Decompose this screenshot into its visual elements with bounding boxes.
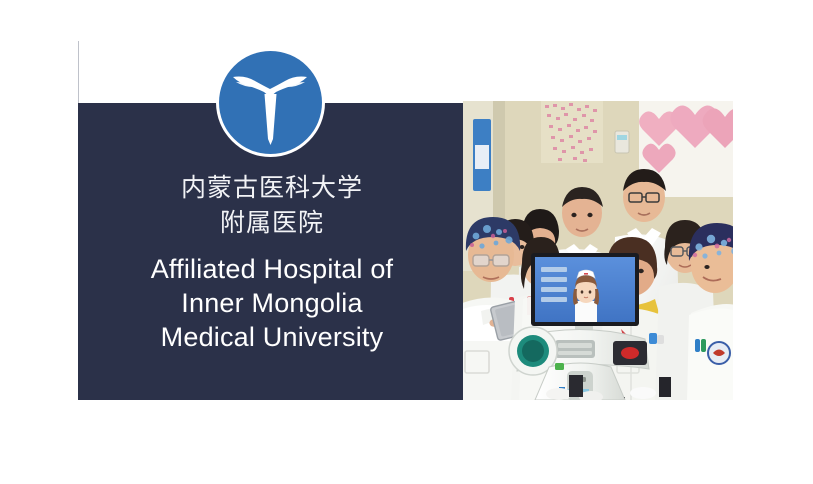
- hospital-name-en-line-3: Medical University: [78, 320, 466, 354]
- hospital-name-en-line-1: Affiliated Hospital of: [78, 252, 466, 286]
- hospital-name-en-line-2: Inner Mongolia: [78, 286, 466, 320]
- hospital-name-en-block: Affiliated Hospital of Inner Mongolia Me…: [78, 252, 466, 354]
- hospital-name-cn-line-1: 内蒙古医科大学: [78, 170, 466, 205]
- emblem-bird-mark: [233, 77, 307, 146]
- accent-vertical-rule: [78, 41, 79, 104]
- hospital-name-cn-line-2: 附属医院: [78, 205, 466, 240]
- hospital-emblem-logo: [219, 51, 322, 154]
- hospital-name-block: 内蒙古医科大学 附属医院 Affiliated Hospital of Inne…: [78, 170, 466, 354]
- hospital-robot-demo-photo: [463, 101, 733, 400]
- slide-canvas: 内蒙古医科大学 附属医院 Affiliated Hospital of Inne…: [0, 0, 813, 484]
